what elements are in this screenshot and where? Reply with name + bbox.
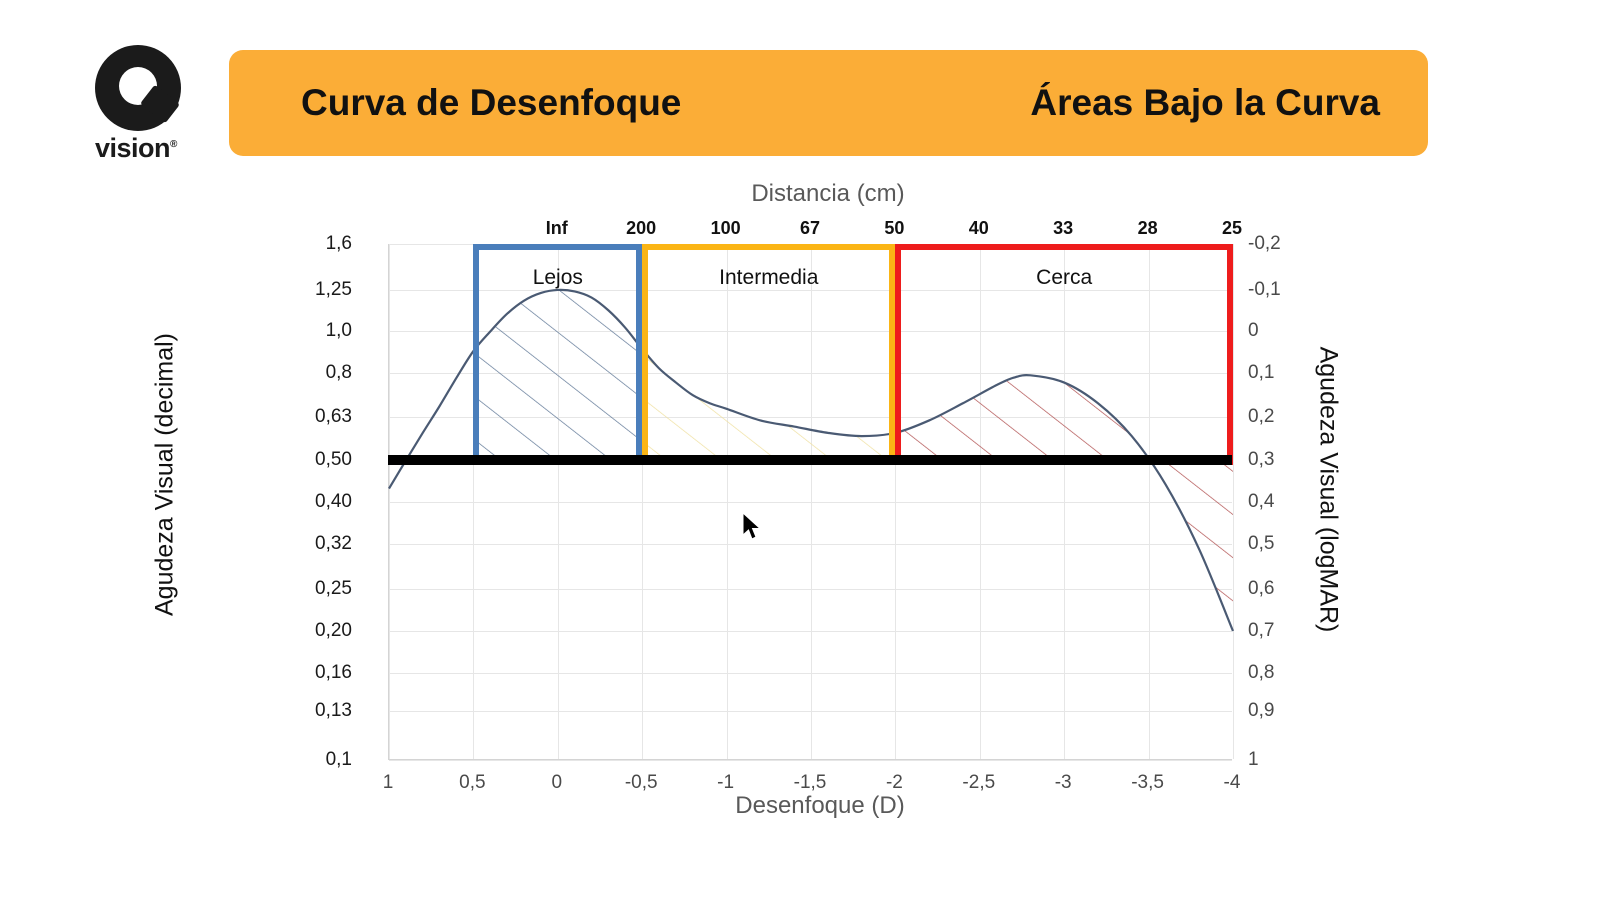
x-tick-bottom: -3,5 <box>1113 772 1183 794</box>
gridline-horizontal <box>389 760 1232 761</box>
banner-left-title: Curva de Desenfoque <box>301 82 681 124</box>
zone-box-lejos[interactable]: Lejos <box>473 244 642 465</box>
x-tick-bottom: -2,5 <box>944 772 1014 794</box>
y-tick-left: 0,20 <box>272 620 352 642</box>
y-tick-left: 1,6 <box>272 233 352 255</box>
zone-box-cerca[interactable]: Cerca <box>895 244 1233 465</box>
logo-word: vision <box>95 133 170 163</box>
qvision-logo: vision® <box>95 45 215 155</box>
y-tick-left: 0,63 <box>272 406 352 428</box>
y-tick-left: 0,25 <box>272 578 352 600</box>
x-tick-bottom: 0,5 <box>437 772 507 794</box>
y-tick-right: 1 <box>1248 749 1328 771</box>
zone-label-lejos: Lejos <box>479 266 636 290</box>
x-tick-bottom: -4 <box>1197 772 1267 794</box>
logo-q-mark <box>95 45 195 131</box>
bottom-axis-title: Desenfoque (D) <box>380 792 1260 820</box>
x-tick-bottom: -2 <box>859 772 929 794</box>
y-tick-right: 0,6 <box>1248 578 1328 600</box>
y-tick-right: 0,8 <box>1248 662 1328 684</box>
zone-label-cerca: Cerca <box>901 266 1227 290</box>
y-tick-left: 0,1 <box>272 749 352 771</box>
x-tick-top: 25 <box>1197 218 1267 239</box>
gridline-vertical <box>1233 244 1234 759</box>
y-tick-left: 0,32 <box>272 533 352 555</box>
y-tick-right: 0 <box>1248 320 1328 342</box>
y-tick-left: 1,25 <box>272 279 352 301</box>
defocus-curve-chart: Distancia (cm) Desenfoque (D) Agudeza Vi… <box>0 160 1600 860</box>
x-tick-bottom: -3 <box>1028 772 1098 794</box>
y-tick-left: 0,50 <box>272 449 352 471</box>
y-tick-left: 1,0 <box>272 320 352 342</box>
x-tick-top: 100 <box>691 218 761 239</box>
zone-box-intermedia[interactable]: Intermedia <box>642 244 895 465</box>
left-axis-title: Agudeza Visual (decimal) <box>151 295 180 655</box>
y-tick-left: 0,13 <box>272 700 352 722</box>
plot-area: LejosIntermediaCerca <box>388 244 1232 760</box>
y-tick-right: 0,4 <box>1248 491 1328 513</box>
top-axis-title: Distancia (cm) <box>388 180 1268 208</box>
x-tick-top: 200 <box>606 218 676 239</box>
y-tick-left: 0,8 <box>272 362 352 384</box>
x-tick-bottom: -1,5 <box>775 772 845 794</box>
header-banner: Curva de Desenfoque Áreas Bajo la Curva <box>229 50 1428 156</box>
zone-label-intermedia: Intermedia <box>648 266 889 290</box>
y-tick-left: 0,40 <box>272 491 352 513</box>
y-tick-right: 0,9 <box>1248 700 1328 722</box>
y-tick-right: 0,7 <box>1248 620 1328 642</box>
banner-right-title: Áreas Bajo la Curva <box>1030 82 1380 124</box>
x-tick-top: 28 <box>1113 218 1183 239</box>
logo-trademark: ® <box>170 139 177 150</box>
x-tick-bottom: -0,5 <box>606 772 676 794</box>
y-tick-right: 0,1 <box>1248 362 1328 384</box>
y-tick-left: 0,16 <box>272 662 352 684</box>
y-tick-right: 0,5 <box>1248 533 1328 555</box>
y-tick-right: 0,2 <box>1248 406 1328 428</box>
y-tick-right: -0,1 <box>1248 279 1328 301</box>
x-tick-top: 33 <box>1028 218 1098 239</box>
x-tick-bottom: 0 <box>522 772 592 794</box>
x-tick-bottom: 1 <box>353 772 423 794</box>
y-tick-right: 0,3 <box>1248 449 1328 471</box>
x-tick-top: 40 <box>944 218 1014 239</box>
x-tick-top: Inf <box>522 218 592 239</box>
x-tick-bottom: -1 <box>691 772 761 794</box>
x-tick-top: 50 <box>859 218 929 239</box>
slide-root: vision® Curva de Desenfoque Áreas Bajo l… <box>0 0 1600 900</box>
threshold-line <box>388 455 1232 465</box>
x-tick-top: 67 <box>775 218 845 239</box>
